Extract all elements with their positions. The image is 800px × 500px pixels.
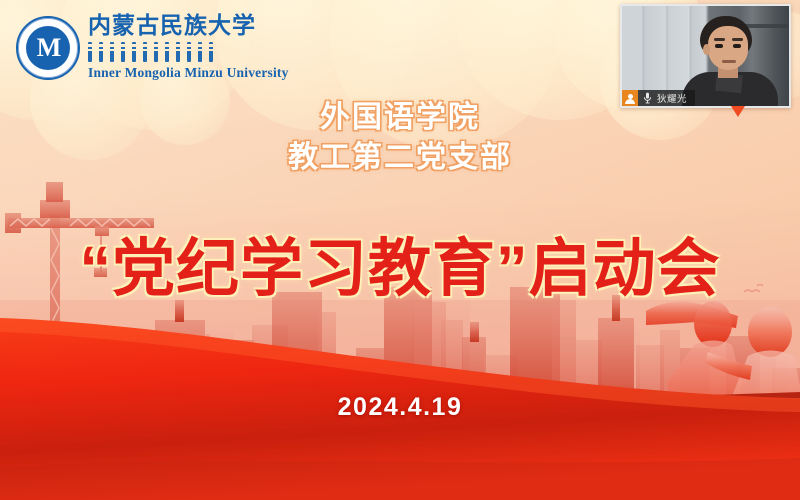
microphone-icon[interactable] — [641, 90, 654, 106]
subtitle-line-2: 教工第二党支部 — [0, 138, 800, 178]
person-mouth — [722, 60, 736, 63]
seal-mark-glyph: M — [26, 26, 70, 70]
page-title: “党纪学习教育”启动会 — [0, 218, 800, 309]
seal-inner-disc: M — [26, 26, 70, 70]
university-name-en: Inner Mongolia Minzu University — [88, 65, 289, 81]
figure-standing — [705, 307, 800, 500]
bokeh-circle — [330, 0, 560, 150]
video-name-bar: 狄耀光 — [622, 90, 695, 106]
red-ribbon — [0, 318, 800, 500]
person-icon — [622, 90, 638, 106]
birds — [744, 285, 763, 293]
crane-silhouette — [5, 182, 154, 430]
person-eye-left — [715, 44, 723, 48]
video-window-pointer — [731, 106, 745, 117]
presentation-slide: M 内蒙古民族大学 Inner Mongolia Minzu Universit… — [0, 0, 800, 500]
person-brow-left — [714, 38, 725, 41]
event-date: 2024.4.19 — [0, 393, 800, 422]
person-eye-right — [733, 44, 741, 48]
figure-pointing — [646, 301, 742, 500]
university-name-cn: 内蒙古民族大学 — [88, 14, 252, 38]
person-face — [708, 26, 748, 70]
university-logo: M 内蒙古民族大学 Inner Mongolia Minzu Universit… — [8, 8, 254, 104]
university-seal-icon: M — [16, 16, 80, 80]
subtitle-block: 外国语学院 教工第二党支部 — [0, 98, 800, 177]
university-name-mongolian — [88, 42, 252, 64]
person-brow-right — [732, 38, 743, 41]
video-participant-window[interactable]: 狄耀光 — [620, 4, 791, 108]
participant-name: 狄耀光 — [657, 91, 687, 105]
person-ear — [703, 44, 710, 55]
